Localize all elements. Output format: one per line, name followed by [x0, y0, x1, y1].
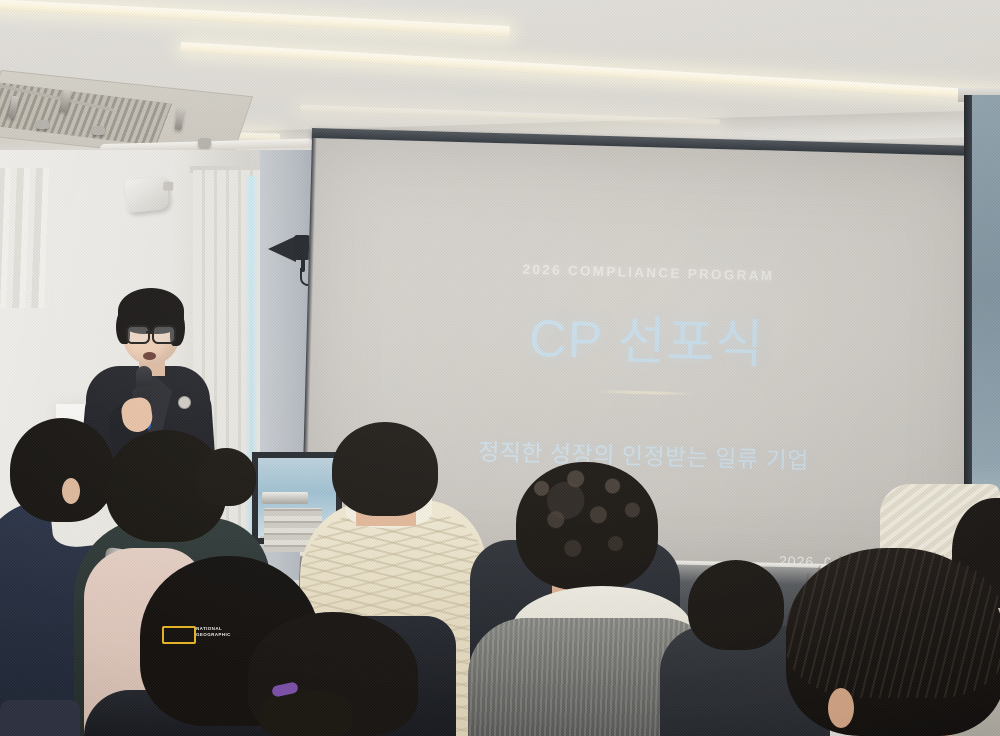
desk-item [262, 492, 308, 504]
glasses-lens-right-icon [152, 325, 176, 344]
hair-strand-texture [786, 548, 1000, 698]
ceiling-spot-head [198, 138, 211, 147]
pa-horn-speaker-icon [268, 232, 306, 268]
microphone-capsule-icon [136, 366, 152, 388]
attendee-head [10, 418, 114, 522]
slide-eyebrow-text: 2026 COMPLIANCE PROGRAM [308, 256, 988, 289]
attendee-head [688, 560, 784, 650]
attendee-ear [62, 478, 80, 504]
attendee-head [332, 422, 438, 516]
lapel-pin-icon [178, 396, 191, 409]
ceiling-spot-head [36, 120, 49, 129]
ceiling-spot-head [92, 126, 105, 135]
glasses-lens-left-icon [126, 325, 150, 344]
national-geographic-logo-text: NATIONAL GEOGRAPHIC [196, 626, 242, 638]
glasses-bridge-icon [146, 331, 153, 333]
presentation-photo-scene: 2026 COMPLIANCE PROGRAM CP 선포식 정직한 성장의 인… [0, 0, 1000, 736]
wall-speaker-icon [124, 176, 169, 213]
slide-divider-rule [598, 390, 692, 396]
national-geographic-logo-icon [162, 626, 196, 644]
window-curtain [0, 168, 50, 308]
presenter-mouth [143, 352, 156, 360]
slide-title-text: CP 선포식 [306, 290, 988, 383]
attendee-ear [828, 688, 854, 728]
attendee-head-background [196, 448, 256, 506]
curly-hair-texture [516, 462, 658, 582]
ponytail [260, 690, 352, 736]
chair-seat [0, 700, 80, 736]
